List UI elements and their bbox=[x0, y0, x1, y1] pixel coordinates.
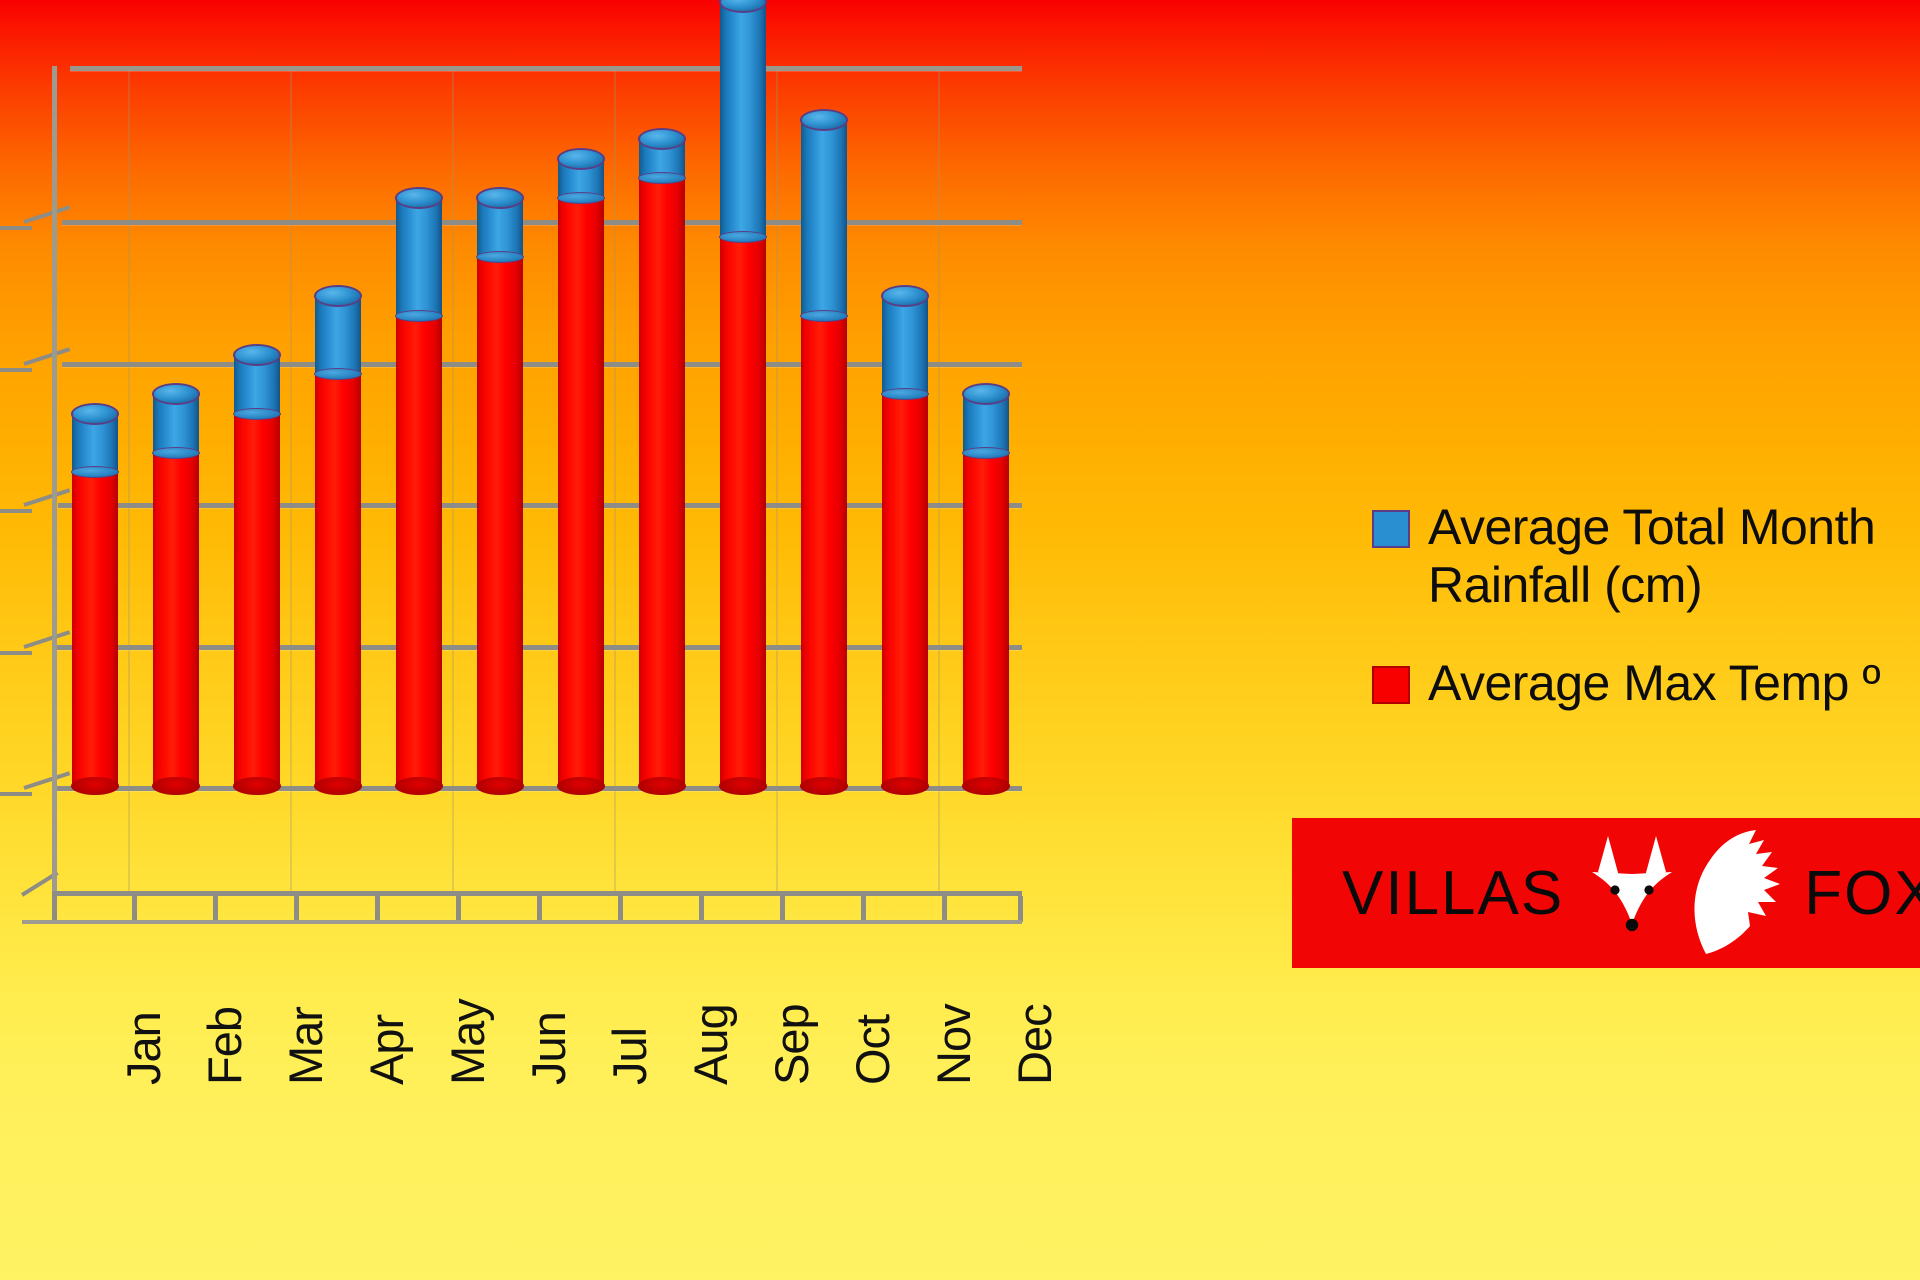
bar-segment-rainfall bbox=[963, 394, 1009, 453]
bar-segment-maxtemp bbox=[477, 257, 523, 786]
legend-label-rainfall: Average Total MonthRainfall (cm) bbox=[1428, 498, 1875, 614]
cylinder-seam bbox=[395, 310, 443, 322]
cylinder-seam bbox=[233, 408, 281, 420]
cylinder-bottom-cap bbox=[233, 777, 281, 795]
x-label-apr: Apr bbox=[359, 1015, 414, 1085]
bar-jul[interactable] bbox=[558, 159, 604, 786]
bar-group bbox=[0, 0, 1100, 893]
cylinder-body bbox=[396, 316, 442, 786]
bar-dec[interactable] bbox=[963, 394, 1009, 786]
cylinder-bottom-cap bbox=[881, 777, 929, 795]
cylinder-bottom-cap bbox=[152, 777, 200, 795]
cylinder-body bbox=[234, 414, 280, 786]
cylinder-body bbox=[882, 394, 928, 786]
cylinder-seam bbox=[557, 192, 605, 204]
cylinder-body bbox=[720, 237, 766, 786]
cylinder-seam bbox=[881, 388, 929, 400]
bar-aug[interactable] bbox=[639, 139, 685, 786]
x-tick bbox=[942, 896, 947, 922]
bar-nov[interactable] bbox=[882, 296, 928, 786]
bar-mar[interactable] bbox=[234, 355, 280, 786]
cylinder-seam bbox=[962, 447, 1010, 459]
legend-swatch-rainfall-icon bbox=[1372, 510, 1410, 548]
cylinder-bottom-cap bbox=[395, 777, 443, 795]
bar-segment-maxtemp bbox=[963, 453, 1009, 786]
cylinder-body bbox=[477, 257, 523, 786]
cylinder-body bbox=[639, 178, 685, 786]
cylinder-body bbox=[315, 374, 361, 786]
bar-oct[interactable] bbox=[801, 120, 847, 786]
cylinder-top-cap bbox=[962, 383, 1010, 405]
bar-segment-maxtemp bbox=[720, 237, 766, 786]
fox-head-and-tail-icon bbox=[1586, 828, 1786, 958]
cylinder-body bbox=[720, 2, 766, 237]
plot-area: JanFebMarAprMayJunJulAugSepOctNovDec bbox=[0, 0, 1100, 1000]
cylinder-top-cap bbox=[152, 383, 200, 405]
x-tick bbox=[618, 896, 623, 922]
bar-segment-maxtemp bbox=[234, 414, 280, 786]
bar-sep[interactable] bbox=[720, 2, 766, 786]
cylinder-body bbox=[315, 296, 361, 374]
villas-fox-logo[interactable]: VILLAS FOX bbox=[1292, 818, 1920, 968]
x-label-jan: Jan bbox=[116, 1012, 171, 1085]
x-label-may: May bbox=[440, 999, 495, 1085]
bar-segment-rainfall bbox=[477, 198, 523, 257]
legend-swatch-maxtemp-icon bbox=[1372, 666, 1410, 704]
x-label-nov: Nov bbox=[926, 1004, 981, 1085]
legend-label-maxtemp: Average Max Temp º bbox=[1428, 654, 1880, 712]
cylinder-top-cap bbox=[476, 187, 524, 209]
cylinder-bottom-cap bbox=[638, 777, 686, 795]
x-tick bbox=[456, 896, 461, 922]
cylinder-seam bbox=[800, 310, 848, 322]
cylinder-bottom-cap bbox=[476, 777, 524, 795]
bar-segment-maxtemp bbox=[396, 316, 442, 786]
x-label-jul: Jul bbox=[602, 1028, 657, 1085]
x-tick bbox=[213, 896, 218, 922]
cylinder-body bbox=[153, 453, 199, 786]
bar-jan[interactable] bbox=[72, 414, 118, 786]
cylinder-top-cap bbox=[557, 148, 605, 170]
x-tick bbox=[780, 896, 785, 922]
x-tick bbox=[1018, 896, 1023, 922]
x-label-dec: Dec bbox=[1007, 1004, 1062, 1085]
bar-segment-rainfall bbox=[720, 2, 766, 237]
cylinder-bottom-cap bbox=[962, 777, 1010, 795]
logo-word-fox: FOX bbox=[1804, 858, 1920, 929]
x-label-aug: Aug bbox=[683, 1004, 738, 1085]
x-tick bbox=[375, 896, 380, 922]
cylinder-bottom-cap bbox=[800, 777, 848, 795]
cylinder-body bbox=[963, 453, 1009, 786]
bar-jun[interactable] bbox=[477, 198, 523, 786]
cylinder-bottom-cap bbox=[557, 777, 605, 795]
bar-segment-rainfall bbox=[153, 394, 199, 453]
bar-segment-rainfall bbox=[801, 120, 847, 316]
bar-segment-rainfall bbox=[396, 198, 442, 316]
x-tick bbox=[537, 896, 542, 922]
bar-segment-maxtemp bbox=[801, 316, 847, 786]
bar-segment-maxtemp bbox=[558, 198, 604, 786]
logo-word-villas: VILLAS bbox=[1342, 858, 1564, 929]
cylinder-seam bbox=[152, 447, 200, 459]
x-tick bbox=[132, 896, 137, 922]
cylinder-top-cap bbox=[800, 109, 848, 131]
cylinder-bottom-cap bbox=[719, 777, 767, 795]
chart-legend: Average Total MonthRainfall (cm) Average… bbox=[1372, 498, 1920, 752]
bar-apr[interactable] bbox=[315, 296, 361, 786]
cylinder-top-cap bbox=[395, 187, 443, 209]
x-tick bbox=[699, 896, 704, 922]
legend-item-maxtemp[interactable]: Average Max Temp º bbox=[1372, 654, 1920, 712]
x-label-sep: Sep bbox=[764, 1004, 819, 1085]
bar-segment-maxtemp bbox=[882, 394, 928, 786]
floor-edge bbox=[22, 920, 1022, 924]
bar-segment-maxtemp bbox=[72, 472, 118, 786]
cylinder-top-cap bbox=[233, 344, 281, 366]
legend-item-rainfall[interactable]: Average Total MonthRainfall (cm) bbox=[1372, 498, 1920, 614]
bar-segment-maxtemp bbox=[153, 453, 199, 786]
x-tick bbox=[294, 896, 299, 922]
bar-segment-maxtemp bbox=[315, 374, 361, 786]
cylinder-top-cap bbox=[881, 285, 929, 307]
cylinder-bottom-cap bbox=[314, 777, 362, 795]
cylinder-body bbox=[801, 120, 847, 316]
cylinder-body bbox=[801, 316, 847, 786]
cylinder-top-cap bbox=[314, 285, 362, 307]
x-label-feb: Feb bbox=[197, 1007, 252, 1085]
chart-canvas: JanFebMarAprMayJunJulAugSepOctNovDec Ave… bbox=[0, 0, 1920, 1280]
cylinder-top-cap bbox=[71, 403, 119, 425]
bar-segment-rainfall bbox=[234, 355, 280, 414]
cylinder-seam bbox=[476, 251, 524, 263]
x-label-oct: Oct bbox=[845, 1015, 900, 1085]
cylinder-body bbox=[558, 198, 604, 786]
bar-segment-rainfall bbox=[315, 296, 361, 374]
cylinder-bottom-cap bbox=[71, 777, 119, 795]
bar-feb[interactable] bbox=[153, 394, 199, 786]
bar-may[interactable] bbox=[396, 198, 442, 786]
x-label-jun: Jun bbox=[521, 1012, 576, 1085]
bar-segment-rainfall bbox=[72, 414, 118, 473]
x-tick bbox=[52, 896, 57, 922]
x-tick bbox=[861, 896, 866, 922]
x-label-mar: Mar bbox=[278, 1007, 333, 1085]
cylinder-body bbox=[882, 296, 928, 394]
bar-segment-maxtemp bbox=[639, 178, 685, 786]
cylinder-body bbox=[396, 198, 442, 316]
bar-segment-rainfall bbox=[882, 296, 928, 394]
cylinder-body bbox=[72, 472, 118, 786]
